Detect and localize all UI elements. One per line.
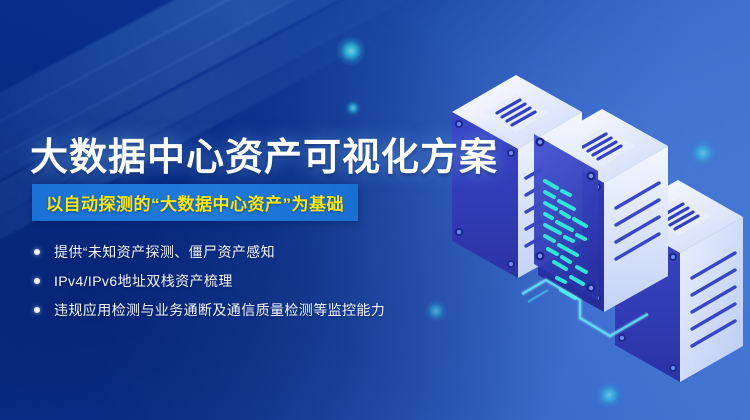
bullet-dot-icon — [34, 307, 40, 313]
subtitle-banner: 以自动探测的“大数据中心资产”为基础 — [32, 184, 358, 221]
list-item: 违规应用检测与业务通断及通信质量检测等监控能力 — [34, 296, 385, 324]
bullet-dot-icon — [34, 278, 40, 284]
bullet-dot-icon — [34, 249, 40, 255]
list-item-label: 提供“未知资产探测、僵尸资产感知 — [54, 242, 275, 262]
feature-list: 提供“未知资产探测、僵尸资产感知 IPv4/IPv6地址双栈资产梳理 违规应用检… — [34, 238, 385, 325]
list-item: IPv4/IPv6地址双栈资产梳理 — [34, 267, 385, 295]
sparkle-glow-icon — [336, 36, 366, 66]
server-illustration — [430, 56, 750, 420]
data-center-banner: 大数据中心资产可视化方案 以自动探测的“大数据中心资产”为基础 提供“未知资产探… — [0, 0, 750, 420]
list-item: 提供“未知资产探测、僵尸资产感知 — [34, 238, 385, 266]
list-item-label: 违规应用检测与业务通断及通信质量检测等监控能力 — [54, 300, 385, 320]
list-item-label: IPv4/IPv6地址双栈资产梳理 — [54, 271, 233, 291]
subtitle-text: 以自动探测的“大数据中心资产”为基础 — [46, 190, 344, 215]
sparkle-glow-icon — [345, 100, 361, 116]
page-title: 大数据中心资产可视化方案 — [30, 126, 498, 181]
